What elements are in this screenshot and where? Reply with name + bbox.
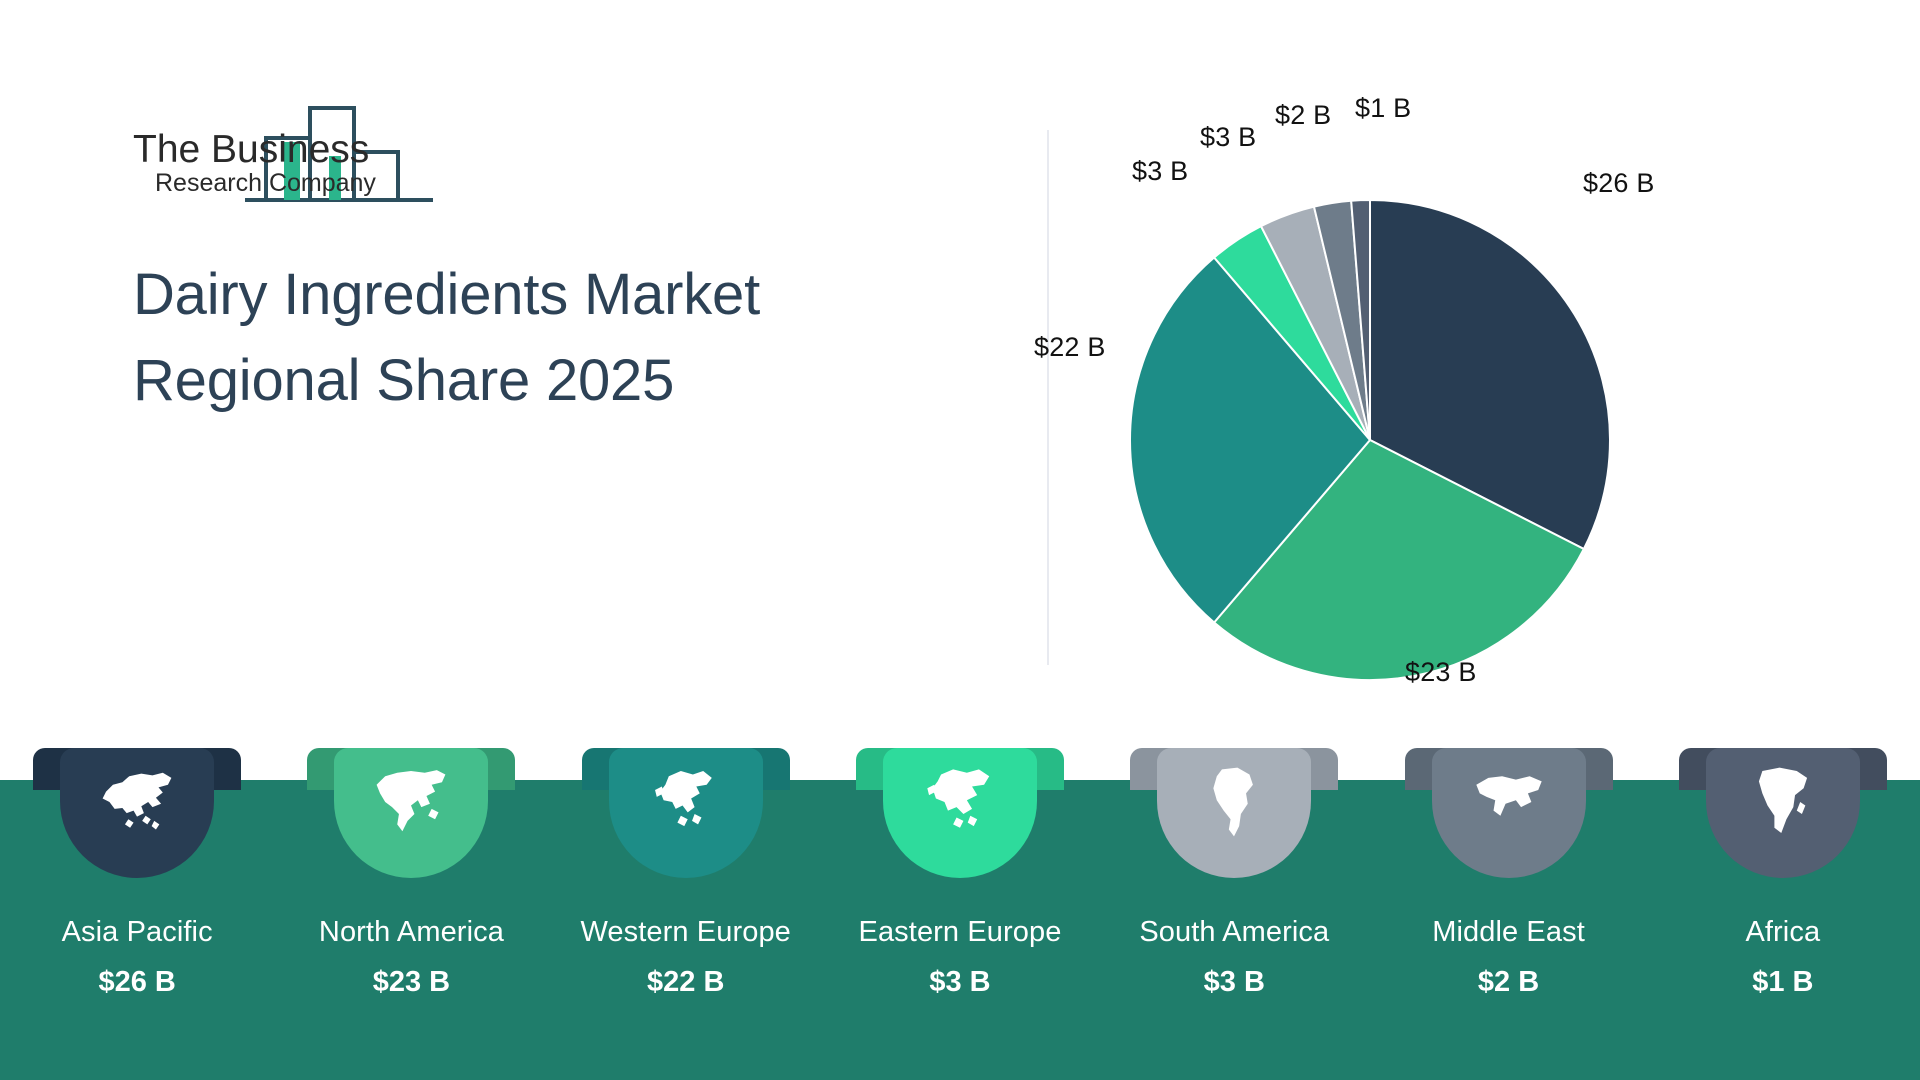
pie-label-africa: $1 B — [1355, 93, 1411, 124]
logo-text-line2: Research Company — [155, 169, 376, 197]
region-label: Western Europe — [549, 916, 823, 949]
africa-map-icon — [1740, 759, 1826, 845]
company-logo: The Business Research Company — [133, 104, 433, 202]
pie-label-asia-pacific: $26 B — [1583, 168, 1655, 199]
region-badge — [334, 748, 488, 878]
title-line-2: Regional Share 2025 — [133, 338, 973, 424]
pie-label-eastern-europe: $3 B — [1132, 156, 1188, 187]
region-label: Africa — [1646, 916, 1920, 949]
region-badge — [1706, 748, 1860, 878]
region-badge — [1157, 748, 1311, 878]
region-item-north-america[interactable]: North America$23 B — [274, 748, 548, 1080]
asia-pacific-map-icon — [94, 759, 180, 845]
pie-chart: $26 B$23 B$22 B$3 B$3 B$2 B$1 B — [1115, 100, 1795, 720]
pie-label-south-america: $3 B — [1200, 122, 1256, 153]
title-line-1: Dairy Ingredients Market — [133, 252, 973, 338]
page-title: Dairy Ingredients Market Regional Share … — [133, 252, 973, 424]
badge-shield — [883, 748, 1037, 878]
badge-shield — [1157, 748, 1311, 878]
south-america-map-icon — [1191, 759, 1277, 845]
western-europe-map-icon — [643, 759, 729, 845]
pie-label-north-america: $23 B — [1405, 657, 1477, 688]
region-badge — [883, 748, 1037, 878]
region-item-asia-pacific[interactable]: Asia Pacific$26 B — [0, 748, 274, 1080]
region-label: Eastern Europe — [823, 916, 1097, 949]
badge-shield — [334, 748, 488, 878]
region-label: South America — [1097, 916, 1371, 949]
eastern-europe-map-icon — [917, 759, 1003, 845]
region-value: $1 B — [1646, 966, 1920, 999]
region-item-south-america[interactable]: South America$3 B — [1097, 748, 1371, 1080]
region-value: $22 B — [549, 966, 823, 999]
region-value: $3 B — [1097, 966, 1371, 999]
infographic-canvas: The Business Research Company Dairy Ingr… — [0, 0, 1920, 1080]
region-badge — [1432, 748, 1586, 878]
region-item-eastern-europe[interactable]: Eastern Europe$3 B — [823, 748, 1097, 1080]
logo-text-line1: The Business — [133, 128, 369, 171]
region-value: $26 B — [0, 966, 274, 999]
middle-east-map-icon — [1466, 759, 1552, 845]
pie-slice-group — [1130, 200, 1610, 680]
region-label: Middle East — [1371, 916, 1645, 949]
logo-mark: The Business Research Company — [133, 104, 433, 202]
badge-shield — [60, 748, 214, 878]
region-badge — [609, 748, 763, 878]
pie-label-western-europe: $22 B — [1034, 332, 1106, 363]
region-item-middle-east[interactable]: Middle East$2 B — [1371, 748, 1645, 1080]
north-america-map-icon — [368, 759, 454, 845]
region-value: $2 B — [1371, 966, 1645, 999]
region-item-africa[interactable]: Africa$1 B — [1646, 748, 1920, 1080]
badge-shield — [609, 748, 763, 878]
region-value: $23 B — [274, 966, 548, 999]
pie-chart-svg — [1115, 100, 1795, 720]
badge-shield — [1432, 748, 1586, 878]
badge-shield — [1706, 748, 1860, 878]
pie-label-middle-east: $2 B — [1275, 100, 1331, 131]
vertical-divider — [1047, 130, 1049, 665]
region-item-western-europe[interactable]: Western Europe$22 B — [549, 748, 823, 1080]
region-badge — [60, 748, 214, 878]
region-label: Asia Pacific — [0, 916, 274, 949]
region-label: North America — [274, 916, 548, 949]
region-legend: Asia Pacific$26 BNorth America$23 BWeste… — [0, 748, 1920, 1080]
region-value: $3 B — [823, 966, 1097, 999]
